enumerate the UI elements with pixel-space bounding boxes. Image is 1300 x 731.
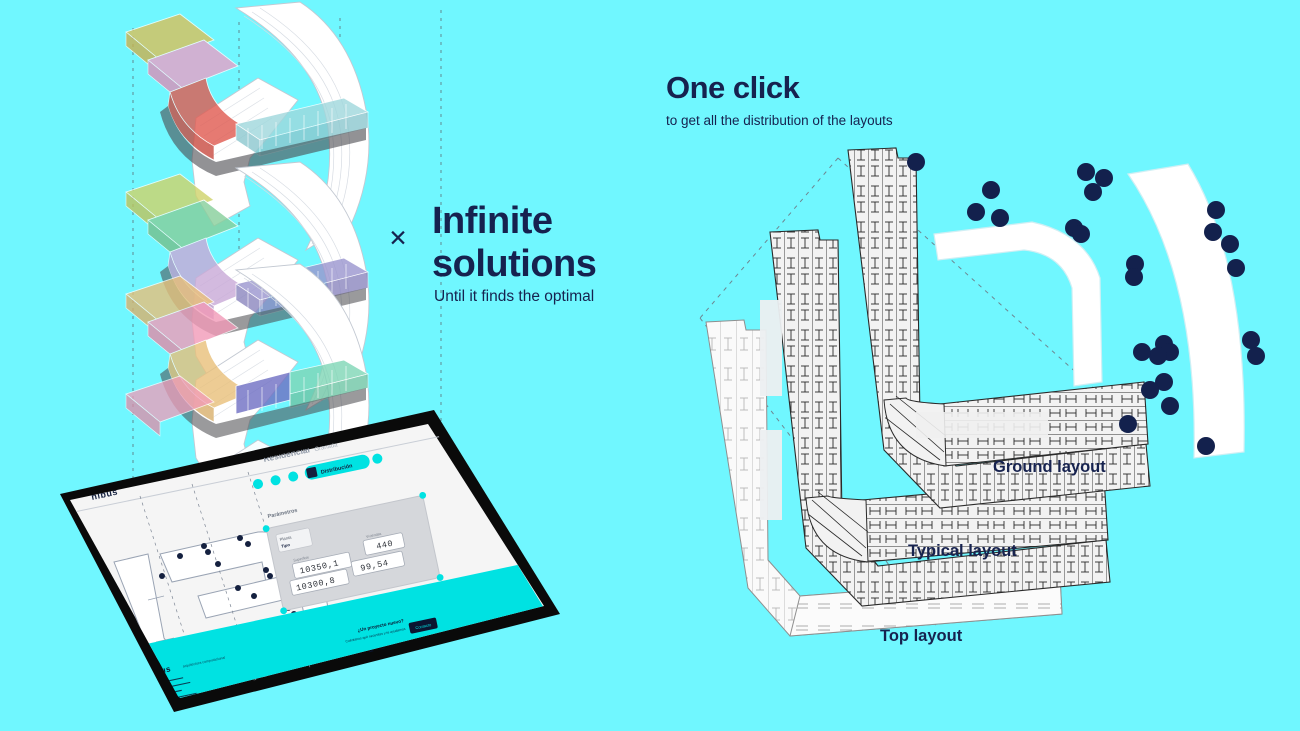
label-typical-layout: Typical layout [908, 542, 1017, 561]
layout-distribution-diagram [0, 0, 1300, 731]
label-ground-layout: Ground layout [993, 458, 1106, 477]
plan-ground [848, 148, 1150, 508]
label-top-layout: Top layout [880, 627, 962, 646]
poster-canvas: ✕ Infinite solutions Until it finds the … [0, 0, 1300, 731]
